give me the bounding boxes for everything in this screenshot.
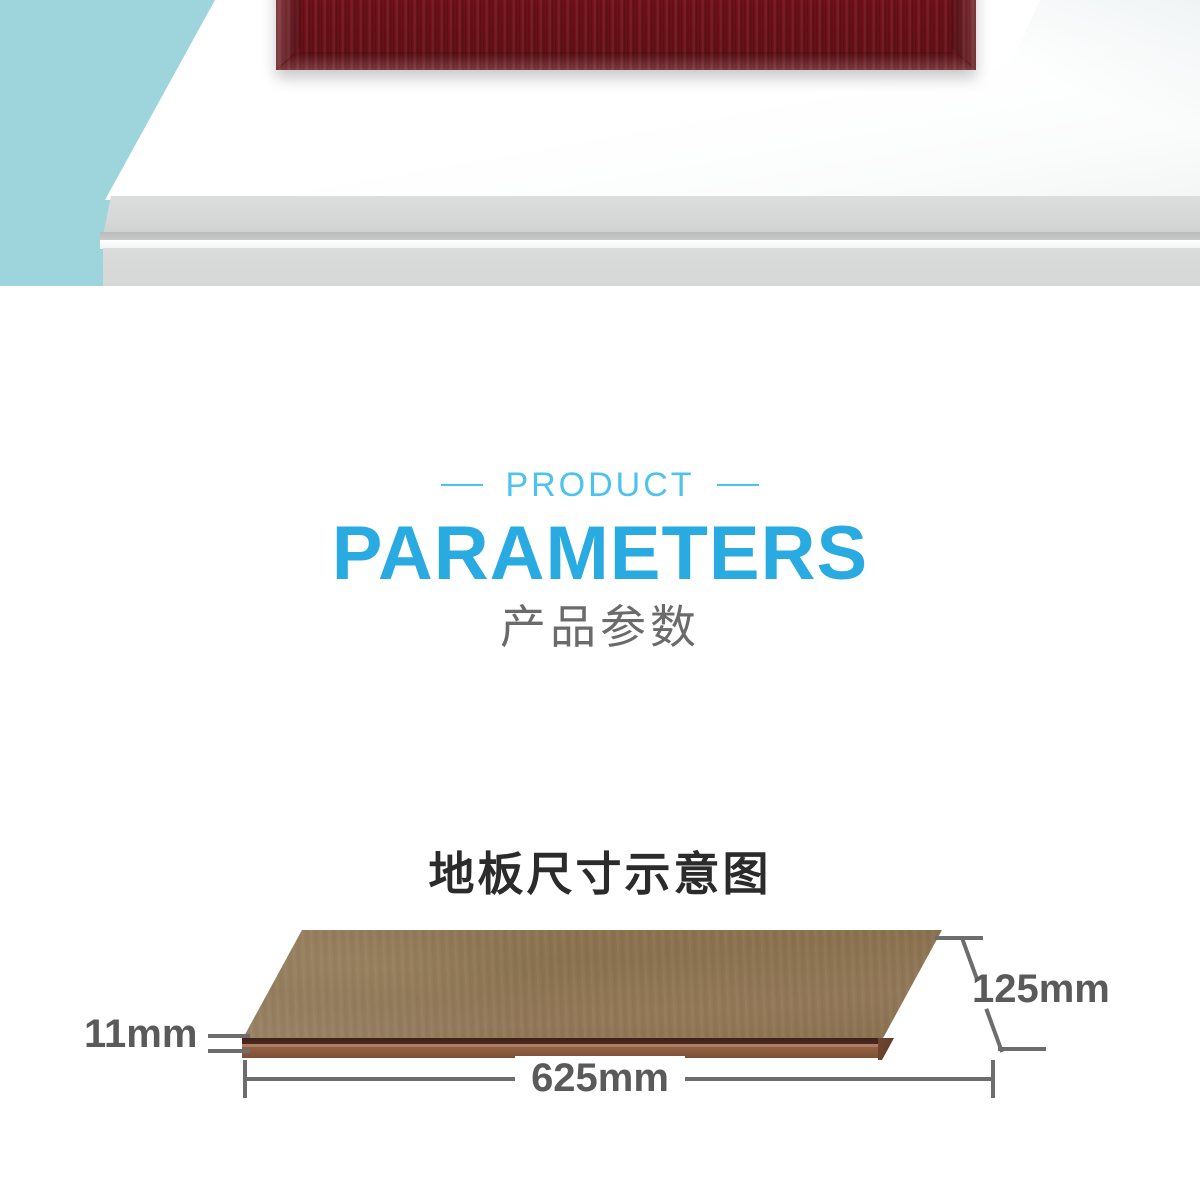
page-title-english: PARAMETERS [0, 514, 1200, 594]
eyebrow-row: PRODUCT [0, 468, 1200, 502]
cabinet-sheen-highlight [980, 0, 1200, 130]
plaque-bevel-bottom [276, 52, 976, 70]
length-label-wrap: 625mm [0, 1056, 1200, 1101]
eyebrow-label: PRODUCT [505, 468, 694, 502]
wooden-plaque-frame [276, 0, 976, 70]
thickness-leader-line-bottom [208, 1049, 250, 1053]
plank-edge-highlight [242, 1044, 882, 1047]
width-tick-bottom [998, 1047, 1046, 1051]
cabinet-drawer-edge [103, 196, 1200, 236]
product-lifestyle-photo [0, 0, 1200, 286]
dash-right-icon [717, 484, 759, 486]
length-label: 625mm [515, 1056, 685, 1100]
plank-top-sheen [242, 930, 942, 1040]
thickness-leader-line-top [208, 1034, 250, 1038]
diagram-title: 地板尺寸示意图 [0, 838, 1200, 904]
dash-left-icon [441, 484, 483, 486]
section-heading: PRODUCT PARAMETERS 产品参数 [0, 468, 1200, 655]
width-label: 125mm [972, 967, 1110, 1012]
product-parameters-page: PRODUCT PARAMETERS 产品参数 地板尺寸示意图 11mm 625… [0, 0, 1200, 1194]
cabinet-front-panel [103, 248, 1200, 286]
page-title-chinese: 产品参数 [0, 600, 1200, 655]
thickness-label: 11mm [84, 1012, 197, 1057]
